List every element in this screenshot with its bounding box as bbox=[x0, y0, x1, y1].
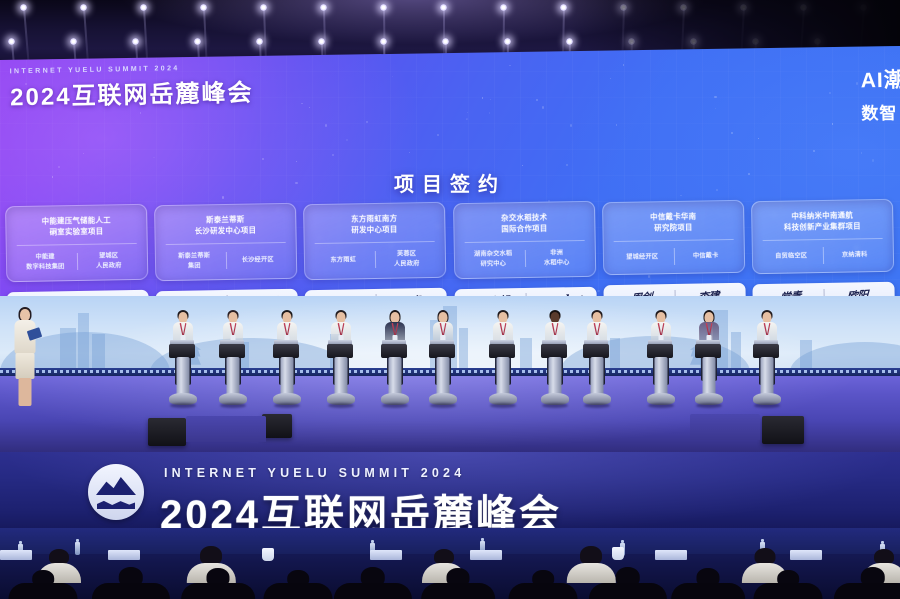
banner-english-title: INTERNET YUELU SUMMIT 2024 bbox=[164, 466, 465, 480]
led-pixel bbox=[84, 370, 87, 373]
audience-member-front bbox=[330, 569, 416, 599]
card-divider bbox=[17, 243, 137, 246]
led-pixel bbox=[42, 370, 45, 373]
spotlight bbox=[194, 38, 201, 45]
name-card bbox=[790, 550, 822, 560]
signing-podium bbox=[580, 340, 614, 415]
signing-podium bbox=[324, 340, 358, 415]
signing-podium bbox=[270, 340, 304, 415]
led-pixel bbox=[156, 370, 159, 373]
wall-particle bbox=[366, 121, 367, 122]
spotlight bbox=[80, 4, 87, 11]
spotlight bbox=[440, 4, 447, 11]
podium-shadow bbox=[328, 403, 354, 408]
wall-particle bbox=[409, 152, 410, 153]
podium-stem bbox=[437, 357, 450, 395]
led-pixel bbox=[528, 370, 531, 373]
podium-shadow bbox=[274, 403, 300, 408]
podium-shadow bbox=[430, 403, 456, 408]
led-pixel bbox=[132, 370, 135, 373]
audience-member-front bbox=[745, 569, 831, 599]
led-pixel bbox=[822, 370, 825, 373]
led-pixel bbox=[360, 370, 363, 373]
signing-podium bbox=[378, 340, 412, 415]
led-pixel bbox=[108, 370, 111, 373]
wall-particle bbox=[325, 124, 327, 126]
podium-console bbox=[219, 344, 245, 358]
name-card bbox=[0, 550, 32, 560]
party-left: 自贸临空区 bbox=[760, 251, 823, 262]
podium-stem bbox=[497, 357, 510, 395]
led-pixel bbox=[264, 370, 267, 373]
podium-console bbox=[583, 344, 609, 358]
party-left: 东方雨虹 bbox=[312, 255, 375, 266]
party-right-line2: 人民政府 bbox=[376, 259, 439, 270]
wall-particle bbox=[466, 119, 467, 120]
party-left: 湖南杂交水稻研究中心 bbox=[461, 249, 524, 270]
stage-monitor-speaker bbox=[762, 416, 804, 444]
signing-parties: 东方雨虹芙蓉区人民政府 bbox=[312, 249, 438, 271]
led-pixel bbox=[522, 370, 525, 373]
led-pixel bbox=[366, 370, 369, 373]
party-right: 望城区人民政府 bbox=[77, 251, 140, 272]
led-pixel bbox=[846, 370, 849, 373]
signing-parties: 望城经开区中信戴卡 bbox=[611, 247, 737, 266]
party-right: 京纳清科 bbox=[823, 249, 886, 260]
led-pixel bbox=[630, 370, 633, 373]
audience-shoulders bbox=[834, 583, 900, 599]
led-pixel bbox=[126, 370, 129, 373]
mountain-wave-logo-icon bbox=[88, 464, 144, 520]
section-title: 项目签约 bbox=[0, 168, 900, 197]
audience-member-front bbox=[175, 569, 261, 599]
card-divider bbox=[464, 240, 584, 243]
led-pixel bbox=[102, 370, 105, 373]
spotlight bbox=[318, 38, 325, 45]
led-pixel bbox=[462, 370, 465, 373]
audience-member-front bbox=[0, 569, 86, 599]
led-pixel bbox=[318, 370, 321, 373]
wall-logo-cn: 2024互联网岳麓峰会 bbox=[10, 73, 254, 113]
spotlight bbox=[380, 38, 387, 45]
podium-stem bbox=[703, 357, 716, 395]
podium-stem bbox=[177, 357, 190, 395]
signing-parties: 中能建数字科技集团望城区人民政府 bbox=[14, 251, 140, 273]
led-pixel bbox=[858, 370, 861, 373]
project-title-line2: 硐室实验室项目 bbox=[13, 225, 139, 239]
signing-parties: 自贸临空区京纳清科 bbox=[760, 246, 886, 265]
card-divider bbox=[315, 241, 435, 244]
signing-parties: 湖南杂交水稻研究中心非洲水稻中心 bbox=[461, 248, 587, 270]
spotlight bbox=[140, 4, 147, 11]
spotlight bbox=[200, 4, 207, 11]
led-pixel bbox=[840, 370, 843, 373]
led-pixel bbox=[744, 370, 747, 373]
project-title: 中科纳米中南通航科技创新产业集群项目 bbox=[759, 209, 885, 234]
wall-summit-logo: INTERNET YUELU SUMMIT 2024 2024互联网岳麓峰会 bbox=[10, 64, 254, 113]
led-pixel bbox=[684, 370, 687, 373]
spotlight bbox=[500, 4, 507, 11]
signing-podium bbox=[538, 340, 572, 415]
party-left-line2: 研究中心 bbox=[462, 259, 525, 270]
audience-shoulders bbox=[92, 583, 170, 599]
signing-podium bbox=[216, 340, 250, 415]
led-pixel bbox=[162, 370, 165, 373]
project-card-column: 中能建压气储能人工硐室实验室项目中能建数字科技集团望城区人民政府赵晋蔡哲 bbox=[5, 204, 149, 304]
podium-stem bbox=[281, 357, 294, 395]
led-pixel bbox=[90, 370, 93, 373]
podium-stem bbox=[227, 357, 240, 395]
wall-particle bbox=[566, 164, 568, 166]
led-pixel bbox=[834, 370, 837, 373]
signing-podium bbox=[750, 340, 784, 415]
led-pixel bbox=[726, 370, 729, 373]
wall-particle bbox=[623, 64, 624, 65]
podium-console bbox=[489, 344, 515, 358]
podium-shadow bbox=[542, 403, 568, 408]
led-pixel bbox=[54, 370, 57, 373]
podium-shadow bbox=[648, 403, 674, 408]
led-pixel bbox=[138, 370, 141, 373]
party-left-line1: 东方雨虹 bbox=[312, 255, 375, 266]
wall-particle bbox=[861, 152, 862, 153]
led-pixel bbox=[828, 370, 831, 373]
podium-shadow bbox=[170, 403, 196, 408]
project-title-line2: 科技创新产业集群项目 bbox=[759, 220, 885, 234]
audience-member-front bbox=[830, 569, 900, 599]
host-skirt bbox=[16, 353, 35, 379]
podium-shadow bbox=[382, 403, 408, 408]
spotlight bbox=[256, 38, 263, 45]
led-pixel bbox=[60, 370, 63, 373]
spotlight bbox=[380, 4, 387, 11]
wall-particle bbox=[490, 99, 491, 100]
project-title-line2: 研究院项目 bbox=[610, 221, 736, 235]
led-pixel bbox=[678, 370, 681, 373]
wall-particle bbox=[536, 99, 538, 101]
project-card-column: 东方雨虹南方研发中心项目东方雨虹芙蓉区人民政府小明信虎 bbox=[303, 202, 447, 304]
project-title: 中信戴卡华南研究院项目 bbox=[610, 210, 736, 235]
signing-podium bbox=[692, 340, 726, 415]
led-pixel bbox=[636, 370, 639, 373]
podium-console bbox=[695, 344, 721, 358]
party-right-line1: 长沙经开区 bbox=[227, 255, 290, 266]
spotlight bbox=[70, 38, 77, 45]
audience-shoulders bbox=[509, 583, 578, 599]
audience-shoulders bbox=[181, 583, 255, 599]
name-card bbox=[108, 550, 140, 560]
audience-shoulders bbox=[589, 583, 667, 599]
stage-monitor-speaker bbox=[262, 414, 292, 438]
party-left-line2: 集团 bbox=[163, 261, 226, 272]
audience-shoulders bbox=[671, 583, 745, 599]
audience-member-front bbox=[665, 569, 751, 599]
podium-console bbox=[381, 344, 407, 358]
stage-riser bbox=[186, 416, 266, 442]
led-pixel bbox=[732, 370, 735, 373]
led-pixel bbox=[258, 370, 261, 373]
led-pixel bbox=[114, 370, 117, 373]
led-pixel bbox=[786, 370, 789, 373]
project-title-line2: 长沙研发中心项目 bbox=[163, 224, 289, 238]
card-divider bbox=[613, 239, 733, 242]
wall-particle bbox=[522, 165, 523, 166]
party-left: 望城经开区 bbox=[611, 252, 674, 263]
led-pixel bbox=[72, 370, 75, 373]
podium-shadow bbox=[584, 403, 610, 408]
audience-area bbox=[0, 528, 900, 599]
led-pixel bbox=[78, 370, 81, 373]
skyline-building bbox=[459, 328, 468, 368]
stage-riser bbox=[690, 414, 760, 440]
podium-shadow bbox=[220, 403, 246, 408]
podium-stem bbox=[655, 357, 668, 395]
spotlight bbox=[504, 38, 511, 45]
stage-monitor-speaker bbox=[148, 418, 186, 446]
audience-shoulders bbox=[264, 583, 333, 599]
skyline-building bbox=[520, 338, 532, 368]
podium-console bbox=[541, 344, 567, 358]
podium-stem bbox=[591, 357, 604, 395]
name-card bbox=[370, 550, 402, 560]
wall-particle bbox=[437, 134, 439, 136]
audience-shoulders bbox=[9, 583, 78, 599]
led-pixel bbox=[0, 370, 3, 373]
wall-particle bbox=[714, 96, 716, 98]
spotlight bbox=[20, 4, 27, 11]
card-divider bbox=[763, 238, 883, 241]
party-right: 长沙经开区 bbox=[227, 255, 290, 266]
spotlight bbox=[8, 38, 15, 45]
led-pixel bbox=[474, 370, 477, 373]
audience-shoulders bbox=[754, 583, 823, 599]
led-pixel bbox=[120, 370, 123, 373]
podium-stem bbox=[389, 357, 402, 395]
party-right-line1: 中信戴卡 bbox=[674, 250, 737, 261]
audience-member-front bbox=[255, 569, 341, 599]
project-card: 杂交水稻技术国际合作项目湖南杂交水稻研究中心非洲水稻中心 bbox=[453, 201, 596, 279]
wall-particle bbox=[715, 108, 716, 109]
project-title: 杂交水稻技术国际合作项目 bbox=[461, 211, 587, 236]
led-pixel bbox=[204, 370, 207, 373]
led-pixel bbox=[96, 370, 99, 373]
led-pixel bbox=[738, 370, 741, 373]
led-pixel bbox=[150, 370, 153, 373]
party-left-line1: 自贸临空区 bbox=[760, 251, 823, 262]
party-left-line2: 数字科技集团 bbox=[14, 262, 77, 273]
tea-cup bbox=[262, 548, 274, 561]
podium-console bbox=[429, 344, 455, 358]
project-card-column: 中信戴卡华南研究院项目望城经开区中信戴卡周剑李建 bbox=[602, 200, 746, 304]
party-right: 中信戴卡 bbox=[674, 250, 737, 261]
led-pixel bbox=[810, 370, 813, 373]
audience-member-front bbox=[500, 569, 586, 599]
project-title: 东方雨虹南方研发中心项目 bbox=[312, 212, 438, 237]
project-title: 中能建压气储能人工硐室实验室项目 bbox=[13, 214, 139, 239]
summit-stage-photo: INTERNET YUELU SUMMIT 2024 2024互联网岳麓峰会 A… bbox=[0, 0, 900, 599]
led-pixel bbox=[804, 370, 807, 373]
spotlight bbox=[442, 38, 449, 45]
project-title: 斯泰兰蒂斯长沙研发中心项目 bbox=[162, 213, 288, 238]
event-host bbox=[8, 305, 42, 415]
podium-shadow bbox=[490, 403, 516, 408]
wall-right-text: AI潮 数智 bbox=[860, 64, 900, 125]
podium-shadow bbox=[696, 403, 722, 408]
led-pixel bbox=[798, 370, 801, 373]
audience-shoulders bbox=[421, 583, 495, 599]
led-pixel bbox=[66, 370, 69, 373]
signing-parties: 斯泰兰蒂斯集团长沙经开区 bbox=[163, 250, 289, 272]
podium-console bbox=[169, 344, 195, 358]
signing-podium bbox=[166, 340, 200, 415]
spotlight bbox=[132, 38, 139, 45]
wall-particle bbox=[467, 112, 468, 113]
podium-stem bbox=[335, 357, 348, 395]
card-divider bbox=[166, 242, 286, 245]
led-pixel bbox=[576, 370, 579, 373]
party-left: 中能建数字科技集团 bbox=[14, 252, 77, 273]
podium-console bbox=[647, 344, 673, 358]
wall-particle bbox=[758, 138, 759, 139]
signing-podium bbox=[486, 340, 520, 415]
audience-shoulders bbox=[334, 583, 412, 599]
wall-particle bbox=[616, 124, 618, 126]
led-pixel bbox=[870, 370, 873, 373]
project-title-line2: 研发中心项目 bbox=[312, 223, 438, 237]
led-pixel bbox=[852, 370, 855, 373]
led-pixel bbox=[624, 370, 627, 373]
led-pixel bbox=[480, 370, 483, 373]
spotlight bbox=[260, 4, 267, 11]
wall-particle bbox=[542, 106, 545, 109]
led-pixel bbox=[468, 370, 471, 373]
led-pixel bbox=[864, 370, 867, 373]
audience-member-front bbox=[415, 569, 501, 599]
party-right: 非洲水稻中心 bbox=[525, 248, 588, 269]
led-pixel bbox=[312, 370, 315, 373]
led-pixel bbox=[816, 370, 819, 373]
podium-console bbox=[273, 344, 299, 358]
led-pixel bbox=[618, 370, 621, 373]
podium-console bbox=[753, 344, 779, 358]
name-card bbox=[470, 550, 502, 560]
led-pixel bbox=[876, 370, 879, 373]
spotlight bbox=[320, 4, 327, 11]
signing-podium bbox=[426, 340, 460, 415]
wall-right-line2: 数智 bbox=[861, 99, 900, 125]
led-pixel bbox=[372, 370, 375, 373]
wall-particle bbox=[610, 78, 611, 79]
led-pixel bbox=[888, 370, 891, 373]
podium-stem bbox=[549, 357, 562, 395]
party-right-line2: 水稻中心 bbox=[525, 258, 588, 269]
audience-member-front bbox=[585, 569, 671, 599]
led-pixel bbox=[894, 370, 897, 373]
led-pixel bbox=[534, 370, 537, 373]
led-pixel bbox=[420, 370, 423, 373]
project-title-line2: 国际合作项目 bbox=[461, 222, 587, 236]
led-pixel bbox=[414, 370, 417, 373]
audience-member-front bbox=[88, 569, 174, 599]
stage-front-banner: INTERNET YUELU SUMMIT 2024 2024互联网岳麓峰会 bbox=[0, 452, 900, 535]
project-card: 斯泰兰蒂斯长沙研发中心项目斯泰兰蒂斯集团长沙经开区 bbox=[154, 203, 297, 281]
party-left-line1: 望城经开区 bbox=[611, 252, 674, 263]
project-card: 东方雨虹南方研发中心项目东方雨虹芙蓉区人民政府 bbox=[303, 202, 446, 280]
podium-stem bbox=[761, 357, 774, 395]
led-pixel bbox=[792, 370, 795, 373]
party-left: 斯泰兰蒂斯集团 bbox=[163, 251, 226, 272]
project-card-row: 中能建压气储能人工硐室实验室项目中能建数字科技集团望城区人民政府赵晋蔡哲斯泰兰蒂… bbox=[6, 205, 894, 304]
party-right-line1: 京纳清科 bbox=[823, 249, 886, 260]
project-card-column: 中科纳米中南通航科技创新产业集群项目自贸临空区京纳清科常青欧阳 bbox=[751, 199, 895, 304]
name-card bbox=[655, 550, 687, 560]
project-card-column: 斯泰兰蒂斯长沙研发中心项目斯泰兰蒂斯集团长沙经开区飞鑫关正野 bbox=[154, 203, 298, 304]
wall-particle bbox=[83, 153, 84, 154]
led-pixel bbox=[306, 370, 309, 373]
wave-shape bbox=[97, 500, 135, 509]
party-right-line2: 人民政府 bbox=[78, 261, 141, 272]
mountain-shape bbox=[96, 477, 136, 495]
host-tablet bbox=[27, 327, 42, 341]
led-pixel bbox=[144, 370, 147, 373]
project-card: 中科纳米中南通航科技创新产业集群项目自贸临空区京纳清科 bbox=[751, 199, 894, 274]
project-card: 中能建压气储能人工硐室实验室项目中能建数字科技集团望城区人民政府 bbox=[5, 204, 148, 282]
led-pixel bbox=[252, 370, 255, 373]
host-legs bbox=[19, 378, 32, 406]
led-pixel bbox=[882, 370, 885, 373]
podium-shadow bbox=[754, 403, 780, 408]
project-card: 中信戴卡华南研究院项目望城经开区中信戴卡 bbox=[602, 200, 745, 275]
podium-console bbox=[327, 344, 353, 358]
led-pixel bbox=[210, 370, 213, 373]
wall-particle bbox=[570, 124, 573, 127]
wall-right-line1: AI潮 bbox=[860, 64, 900, 95]
spotlight bbox=[560, 4, 567, 11]
project-card-column: 杂交水稻技术国际合作项目湖南杂交水稻研究中心非洲水稻中心唐文邦Amadou bbox=[453, 201, 597, 304]
main-led-wall: INTERNET YUELU SUMMIT 2024 2024互联网岳麓峰会 A… bbox=[0, 46, 900, 304]
led-pixel bbox=[48, 370, 51, 373]
signing-podium bbox=[644, 340, 678, 415]
party-right: 芙蓉区人民政府 bbox=[376, 249, 439, 270]
